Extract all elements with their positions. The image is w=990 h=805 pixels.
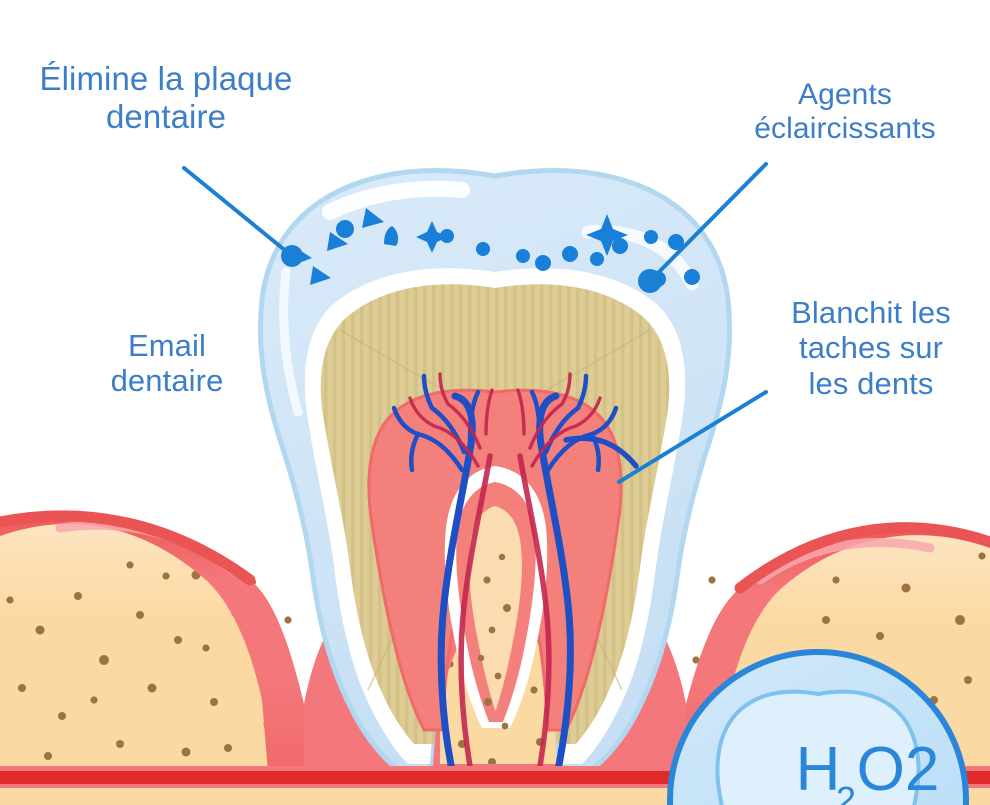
label-enamel: Email dentaire [52,328,282,399]
h2o2-formula-tail: O2 [857,735,940,804]
label-agents: Agents éclaircissants [700,78,990,146]
leader-dot-plaque [281,245,303,267]
label-plaque: Élimine la plaque dentaire [6,60,326,135]
h2o2-formula-sub: 2 [836,779,856,805]
pulp-chamber [369,390,621,730]
h2o2-formula-main: H [796,735,841,804]
leader-dot-agents [638,269,662,293]
label-stains: Blanchit les taches sur les dents [752,295,990,401]
